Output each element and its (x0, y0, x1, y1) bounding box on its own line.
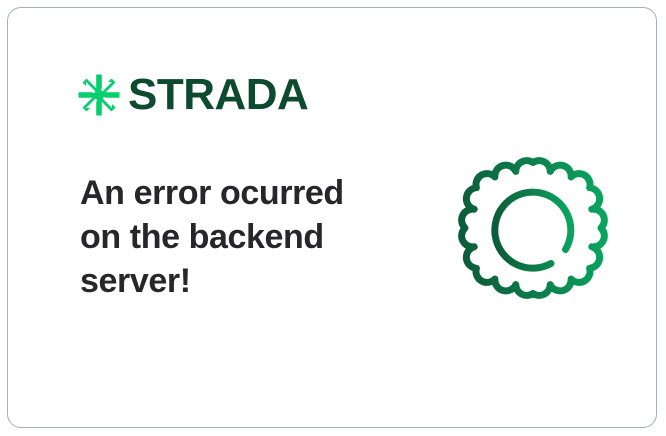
error-message: An error ocurred on the backend server! (80, 171, 380, 303)
brand-lockup: STRADA (78, 71, 308, 119)
error-card: STRADA An error ocurred on the backend s… (7, 7, 657, 428)
strada-asterisk-icon (78, 74, 120, 116)
brand-wordmark: STRADA (128, 73, 308, 117)
gear-cog-icon (454, 149, 612, 307)
page-background: STRADA An error ocurred on the backend s… (0, 0, 666, 436)
error-message-text: An error ocurred on the backend server! (80, 174, 344, 300)
